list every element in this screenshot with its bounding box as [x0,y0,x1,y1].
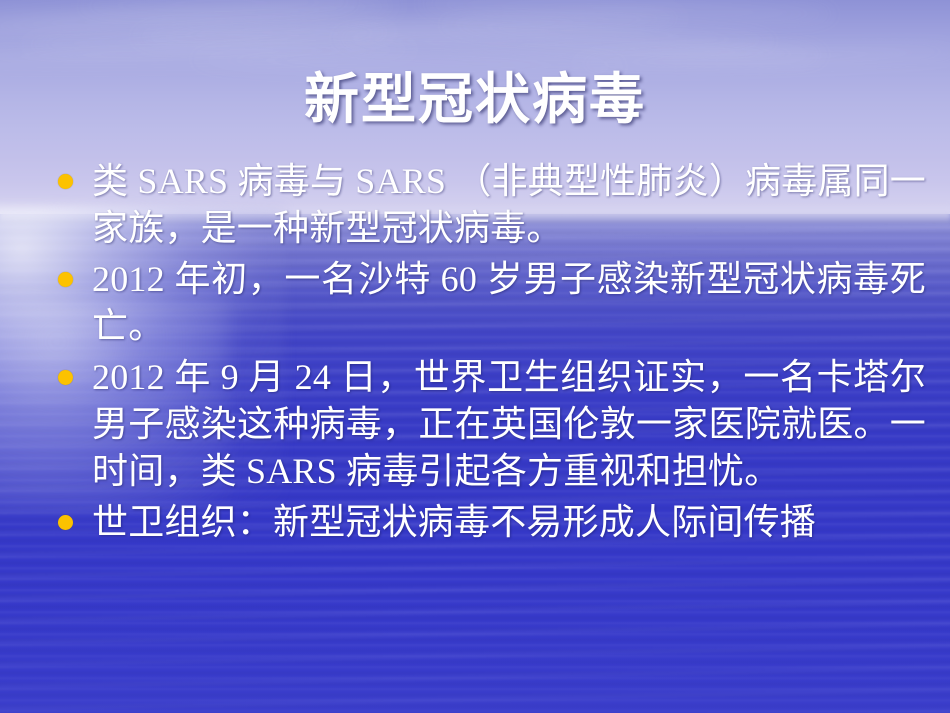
bullet-dot-icon [58,272,73,287]
bullet-item-text: 世卫组织：新型冠状病毒不易形成人际间传播 [92,499,926,546]
bullet-list-item: 类 SARS 病毒与 SARS （非典型性肺炎）病毒属同一家族，是一种新型冠状病… [42,158,926,252]
bullet-dot-icon [58,370,73,385]
bullet-list-item: 2012 年初，一名沙特 60 岁男子感染新型冠状病毒死亡。 [42,256,926,350]
bullet-list: 类 SARS 病毒与 SARS （非典型性肺炎）病毒属同一家族，是一种新型冠状病… [42,158,926,546]
bullet-list-item: 2012 年 9 月 24 日，世界卫生组织证实，一名卡塔尔男子感染这种病毒，正… [42,354,926,495]
bullet-item-text: 类 SARS 病毒与 SARS （非典型性肺炎）病毒属同一家族，是一种新型冠状病… [92,158,926,252]
presentation-slide: 新型冠状病毒 类 SARS 病毒与 SARS （非典型性肺炎）病毒属同一家族，是… [0,0,950,713]
bullet-dot-icon [58,174,73,189]
bullet-list-item: 世卫组织：新型冠状病毒不易形成人际间传播 [42,499,926,546]
slide-title: 新型冠状病毒 [0,68,950,130]
bullet-item-text: 2012 年初，一名沙特 60 岁男子感染新型冠状病毒死亡。 [92,256,926,350]
slide-content: 新型冠状病毒 类 SARS 病毒与 SARS （非典型性肺炎）病毒属同一家族，是… [0,0,950,713]
bullet-dot-icon [58,515,73,530]
bullet-item-text: 2012 年 9 月 24 日，世界卫生组织证实，一名卡塔尔男子感染这种病毒，正… [92,354,926,495]
